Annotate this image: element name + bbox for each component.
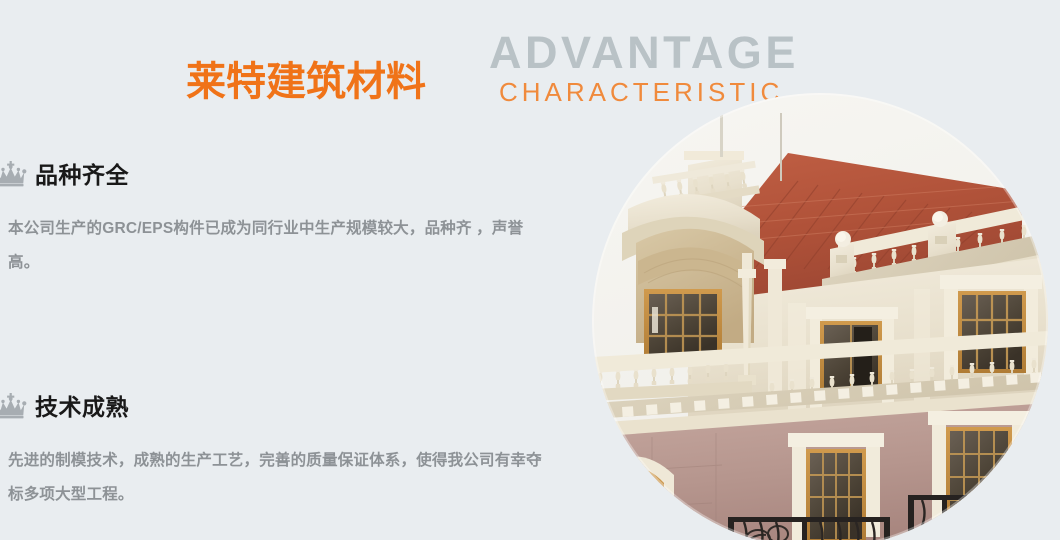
feature-heading: 品种齐全 <box>0 158 560 192</box>
building-photo <box>592 93 1048 540</box>
crown-icon <box>0 161 28 189</box>
feature-list: 品种齐全 本公司生产的GRC/EPS构件已成为同行业中生产规模较大，品种齐 ，声… <box>0 158 560 512</box>
header-title-chinese: 莱特建筑材料 <box>186 62 426 102</box>
feature-item: 技术成熟 先进的制模技术，成熟的生产工艺，完善的质量保证体系，使得我公司有幸夺标… <box>0 390 560 512</box>
advantage-banner: ADVANTAGE CHARACTERISTIC 莱特建筑材料 <box>0 0 1060 540</box>
feature-description: 本公司生产的GRC/EPS构件已成为同行业中生产规模较大，品种齐 ，声誉高。 <box>8 212 553 280</box>
header-english-title-group: ADVANTAGE CHARACTERISTIC <box>489 30 799 106</box>
feature-heading: 技术成熟 <box>0 390 560 424</box>
crown-icon <box>0 393 28 421</box>
feature-title: 品种齐全 <box>35 162 129 188</box>
header-title-advantage: ADVANTAGE <box>489 30 799 76</box>
feature-item: 品种齐全 本公司生产的GRC/EPS构件已成为同行业中生产规模较大，品种齐 ，声… <box>0 158 560 280</box>
feature-title: 技术成熟 <box>35 394 129 420</box>
feature-description: 先进的制模技术，成熟的生产工艺，完善的质量保证体系，使得我公司有幸夺标多项大型工… <box>8 444 553 512</box>
